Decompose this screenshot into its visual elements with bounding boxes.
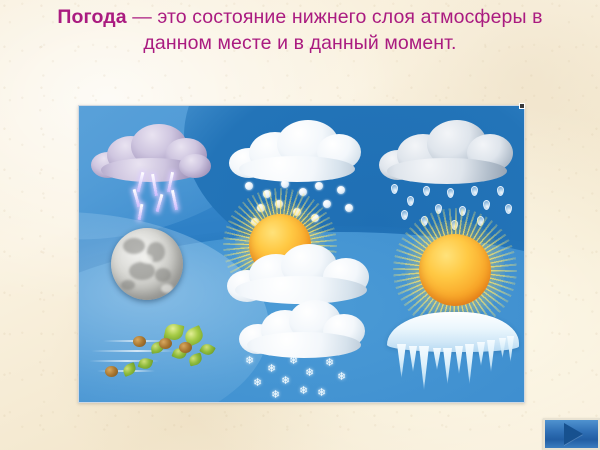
title-definition: — это состояние нижнего слоя атмосферы в… [127, 6, 543, 54]
snowflake-icon: ❄ [325, 358, 334, 369]
leaf-icon [179, 342, 192, 353]
snowflake-icon: ❄ [337, 372, 346, 383]
snowflake-icon: ❄ [317, 388, 326, 399]
weather-icon-partly-sunny[interactable] [227, 212, 375, 308]
leaf-icon [133, 336, 146, 347]
weather-icon-frost[interactable] [385, 302, 525, 402]
snowflake-icon: ❄ [281, 376, 290, 387]
next-slide-button[interactable] [543, 418, 600, 450]
weather-icon-thunderstorm[interactable] [87, 116, 217, 226]
leaf-icon [138, 356, 154, 370]
snowflake-icon: ❄ [253, 378, 262, 389]
snowflake-icon: ❄ [271, 390, 280, 401]
lightning-bolt-icon [156, 194, 164, 212]
weather-icon-wind[interactable] [89, 306, 229, 396]
snowflake-icon: ❄ [305, 368, 314, 379]
leaf-icon [188, 353, 203, 367]
leaf-icon [159, 338, 172, 349]
play-triangle-icon [564, 423, 583, 445]
image-resize-handle[interactable] [519, 103, 525, 109]
leaf-icon [199, 341, 216, 357]
weather-icon-snow[interactable]: ❄ ❄ ❄ ❄ ❄ ❄ ❄ ❄ ❄ ❄ ❄ [237, 298, 377, 402]
leaf-icon [122, 362, 138, 377]
snowflake-icon: ❄ [289, 356, 298, 367]
snowflake-icon: ❄ [245, 356, 254, 367]
full-moon-icon [111, 228, 183, 300]
sun-icon [419, 234, 491, 306]
title-keyword: Погода [57, 6, 126, 28]
snowflake-icon: ❄ [299, 386, 308, 397]
lightning-bolt-icon [171, 190, 178, 210]
weather-icon-moon[interactable] [107, 224, 187, 304]
snowflake-icon: ❄ [267, 364, 276, 375]
page-title: Погода — это состояние нижнего слоя атмо… [22, 4, 578, 56]
icicles-icon [387, 312, 519, 352]
slide-canvas: Погода — это состояние нижнего слоя атмо… [0, 0, 600, 450]
leaf-icon [105, 366, 118, 377]
weather-image[interactable]: ❄ ❄ ❄ ❄ ❄ ❄ ❄ ❄ ❄ ❄ ❄ [78, 105, 525, 403]
